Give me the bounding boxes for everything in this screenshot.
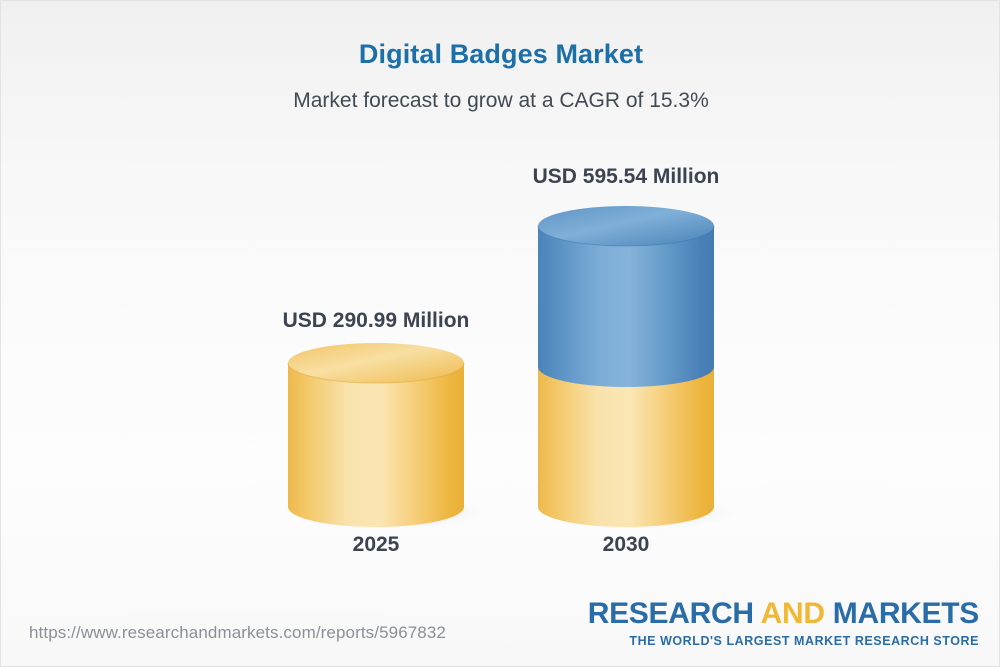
bar-cylinder-2025 [276,341,486,531]
chart-subtitle: Market forecast to grow at a CAGR of 15.… [1,89,1000,113]
logo-tagline: THE WORLD'S LARGEST MARKET RESEARCH STOR… [588,635,979,648]
logo-word-research: RESEARCH [588,597,754,630]
logo-wordmark: RESEARCH AND MARKETS [588,599,979,629]
logo-word-markets: MARKETS [833,597,979,630]
value-label-2025: USD 290.99 Million [176,309,576,333]
category-label-2030: 2030 [506,533,746,557]
research-and-markets-logo[interactable]: RESEARCH AND MARKETS THE WORLD'S LARGEST… [588,599,979,648]
logo-word-and: AND [754,597,833,630]
source-url[interactable]: https://www.researchandmarkets.com/repor… [29,623,446,643]
chart-canvas: Digital Badges Market Market forecast to… [0,0,1000,667]
category-label-2025: 2025 [256,533,496,557]
bar-cylinder-2030 [526,197,736,531]
value-label-2030: USD 595.54 Million [426,165,826,189]
chart-title: Digital Badges Market [1,39,1000,70]
